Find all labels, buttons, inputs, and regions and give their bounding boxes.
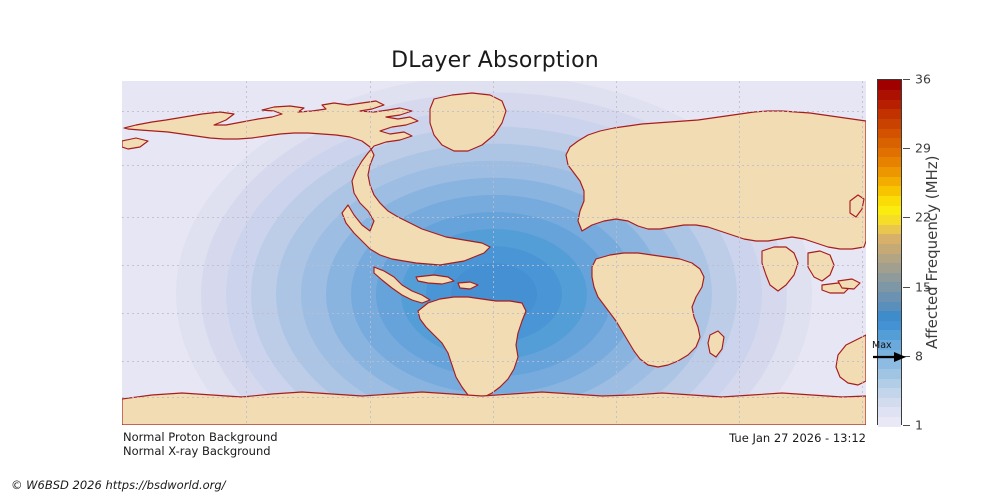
colorbar-band <box>878 195 901 205</box>
colorbar-band <box>878 253 901 263</box>
max-marker: Max <box>872 340 908 366</box>
colorbar-band <box>878 138 901 148</box>
colorbar-band <box>878 330 901 340</box>
max-arrow-icon <box>872 351 908 365</box>
colorbar-band <box>878 301 901 311</box>
xray-background-note: Normal X-ray Background <box>123 444 271 458</box>
colorbar-band <box>878 224 901 234</box>
colorbar-band <box>878 378 901 388</box>
colorbar-band <box>878 118 901 128</box>
colorbar-band <box>878 263 901 273</box>
colorbar-tick <box>903 217 910 218</box>
colorbar-band <box>878 205 901 215</box>
colorbar-band <box>878 368 901 378</box>
antarctica <box>122 392 866 425</box>
max-marker-label: Max <box>872 340 892 351</box>
colorbar-band <box>878 272 901 282</box>
chart-page: DLayer Absorption <box>0 0 1000 500</box>
timestamp: Tue Jan 27 2026 - 13:12 <box>729 431 866 445</box>
colorbar-band <box>878 186 901 196</box>
world-map[interactable] <box>122 81 866 425</box>
colorbar-band <box>878 80 901 90</box>
credit-line: © W6BSD 2026 https://bsdworld.org/ <box>11 478 226 492</box>
colorbar-band <box>878 167 901 177</box>
colorbar-band <box>878 99 901 109</box>
map-canvas <box>122 81 866 425</box>
colorbar-band <box>878 311 901 321</box>
colorbar-tick <box>903 287 910 288</box>
colorbar-gradient <box>877 79 902 425</box>
page-title: DLayer Absorption <box>0 48 990 73</box>
colorbar-tick-label: 1 <box>915 418 923 433</box>
colorbar-band <box>878 282 901 292</box>
colorbar-tick <box>903 79 910 80</box>
colorbar-band <box>878 234 901 244</box>
colorbar-axis-label: Affected Frequency (MHz) <box>923 79 941 425</box>
colorbar-band <box>878 407 901 417</box>
colorbar-band <box>878 388 901 398</box>
colorbar-band <box>878 176 901 186</box>
colorbar-tick-label: 8 <box>915 348 923 363</box>
colorbar-band <box>878 90 901 100</box>
colorbar-band <box>878 215 901 225</box>
colorbar-band <box>878 291 901 301</box>
colorbar-tick <box>903 425 910 426</box>
colorbar-band <box>878 157 901 167</box>
colorbar-tick <box>903 148 910 149</box>
colorbar-band <box>878 147 901 157</box>
colorbar-band <box>878 128 901 138</box>
colorbar-band <box>878 397 901 407</box>
colorbar[interactable]: 1815222936 <box>877 79 902 425</box>
colorbar-band <box>878 416 901 426</box>
colorbar-band <box>878 320 901 330</box>
colorbar-band <box>878 109 901 119</box>
colorbar-band <box>878 243 901 253</box>
proton-background-note: Normal Proton Background <box>123 430 278 444</box>
